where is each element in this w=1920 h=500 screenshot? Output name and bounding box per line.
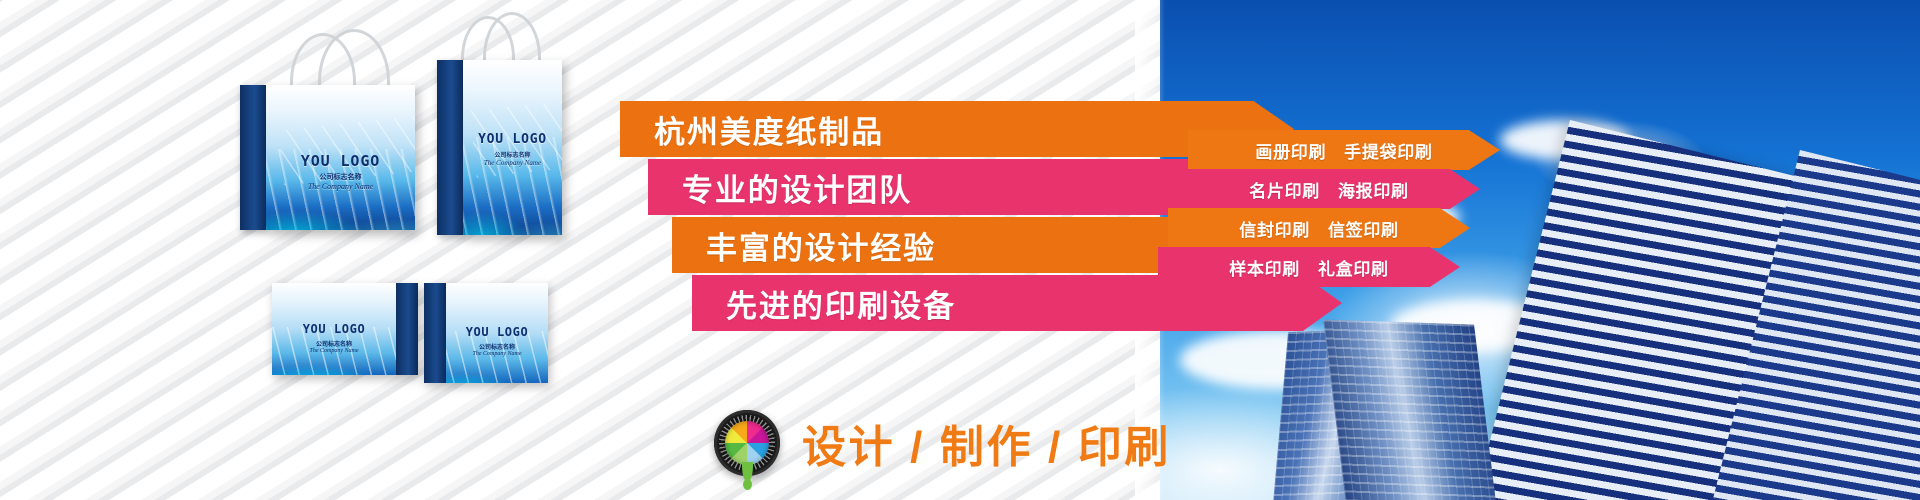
service-tag-row-1: 画册印刷 手提袋印刷 bbox=[1188, 130, 1500, 170]
color-wheel-segments bbox=[725, 421, 769, 465]
service-tag-item: 礼盒印刷 bbox=[1318, 255, 1389, 280]
tagline-block: 设计 / 制作 / 印刷 bbox=[714, 410, 1171, 476]
service-tag-item: 信签印刷 bbox=[1328, 216, 1399, 241]
service-tag-item: 手提袋印刷 bbox=[1344, 138, 1432, 163]
service-tag-item: 信封印刷 bbox=[1239, 216, 1310, 241]
service-tag-item: 名片印刷 bbox=[1249, 177, 1320, 202]
color-wheel-icon bbox=[714, 410, 780, 476]
promo-banner: YOU LOGO 公司标志名称 The Company Name YOU LOG… bbox=[0, 0, 1920, 500]
service-tag-item: 海报印刷 bbox=[1338, 177, 1409, 202]
service-tag-item: 画册印刷 bbox=[1255, 138, 1326, 163]
tagline-text: 设计 / 制作 / 印刷 bbox=[802, 411, 1171, 475]
service-tag-row-3: 信封印刷 信签印刷 bbox=[1168, 208, 1470, 248]
service-tag-item: 样本印刷 bbox=[1229, 255, 1300, 280]
service-tag-row-4: 样本印刷 礼盒印刷 bbox=[1158, 247, 1460, 287]
service-tag-row-2: 名片印刷 海报印刷 bbox=[1178, 169, 1480, 209]
